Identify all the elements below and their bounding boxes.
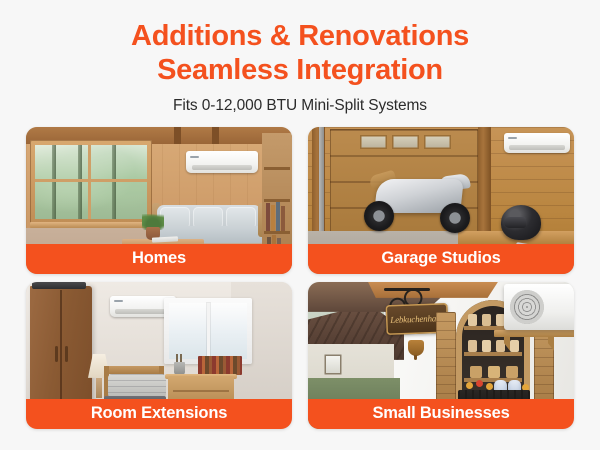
flower: [476, 380, 483, 387]
tree-trunk: [112, 145, 116, 219]
page-title-line-2: Seamless Integration: [131, 54, 469, 88]
wood-post: [478, 127, 491, 245]
page-subtitle: Fits 0-12,000 BTU Mini-Split Systems: [173, 97, 427, 115]
condenser-support-shelf: [494, 330, 574, 337]
display-goods: [468, 314, 477, 326]
window-shutter: [436, 312, 456, 408]
page-title: Additions & Renovations Seamless Integra…: [131, 20, 469, 88]
helmet-visor: [504, 217, 526, 228]
bed-headboard: [104, 366, 164, 374]
display-goods: [488, 366, 500, 378]
window-mullion-vertical: [88, 145, 91, 219]
display-goods: [506, 366, 518, 378]
book: [271, 205, 275, 231]
ceiling-beam: [212, 127, 219, 144]
card-small-businesses[interactable]: Lebkuchenhaus: [308, 282, 574, 429]
wardrobe-handle: [65, 346, 68, 362]
display-goods: [468, 340, 477, 352]
display-goods: [482, 340, 491, 352]
ceiling-beam: [174, 127, 181, 144]
use-case-card-grid: Homes: [26, 127, 574, 429]
card-label-garage-studios: Garage Studios: [308, 244, 574, 274]
garage-door-window: [392, 135, 419, 149]
book: [276, 202, 280, 231]
wardrobe-handle: [55, 346, 58, 362]
display-goods: [496, 340, 505, 352]
wardrobe-top-storage: [32, 282, 86, 289]
garage-door-window: [360, 135, 387, 149]
bell-clapper: [414, 355, 417, 360]
book: [266, 203, 270, 231]
neighbour-window: [326, 356, 340, 373]
book: [281, 206, 285, 231]
window-mullion-horizontal: [35, 179, 147, 182]
flower: [466, 382, 473, 389]
bell: [408, 340, 424, 356]
shelf-board: [264, 167, 290, 170]
card-label-small-businesses: Small Businesses: [308, 399, 574, 429]
card-garage-studios[interactable]: Garage Studios: [308, 127, 574, 274]
pencil-cup: [174, 362, 185, 375]
motorcycle-front-wheel: [364, 201, 394, 231]
page-title-line-1: Additions & Renovations: [131, 20, 469, 54]
promo-banner: Additions & Renovations Seamless Integra…: [0, 0, 600, 450]
tree-trunk: [52, 145, 56, 219]
tree-trunk: [78, 145, 82, 219]
condenser-fan-grille: [510, 290, 544, 324]
motorcycle-rear-wheel: [440, 203, 470, 233]
door-track: [319, 127, 324, 245]
mini-split-indoor-unit: [504, 133, 570, 153]
flower: [486, 383, 493, 390]
display-goods: [470, 366, 482, 378]
garage-door-window: [424, 135, 451, 149]
shelf-board: [264, 231, 290, 234]
mini-split-indoor-unit: [186, 151, 258, 173]
display-goods: [482, 314, 491, 326]
lamp-base: [96, 378, 102, 398]
window-sash-bar: [207, 303, 210, 359]
stacked-bedding: [108, 374, 166, 398]
wardrobe-door-seam: [60, 290, 62, 402]
card-label-room-extensions: Room Extensions: [26, 399, 292, 429]
sign-bracket-arm: [384, 288, 430, 291]
display-shelf: [464, 352, 522, 356]
drawer-seam: [173, 390, 229, 392]
card-homes[interactable]: Homes: [26, 127, 292, 274]
display-goods: [510, 340, 519, 352]
books-row: [198, 356, 242, 375]
card-label-homes: Homes: [26, 244, 292, 274]
card-room-extensions[interactable]: Room Extensions: [26, 282, 292, 429]
